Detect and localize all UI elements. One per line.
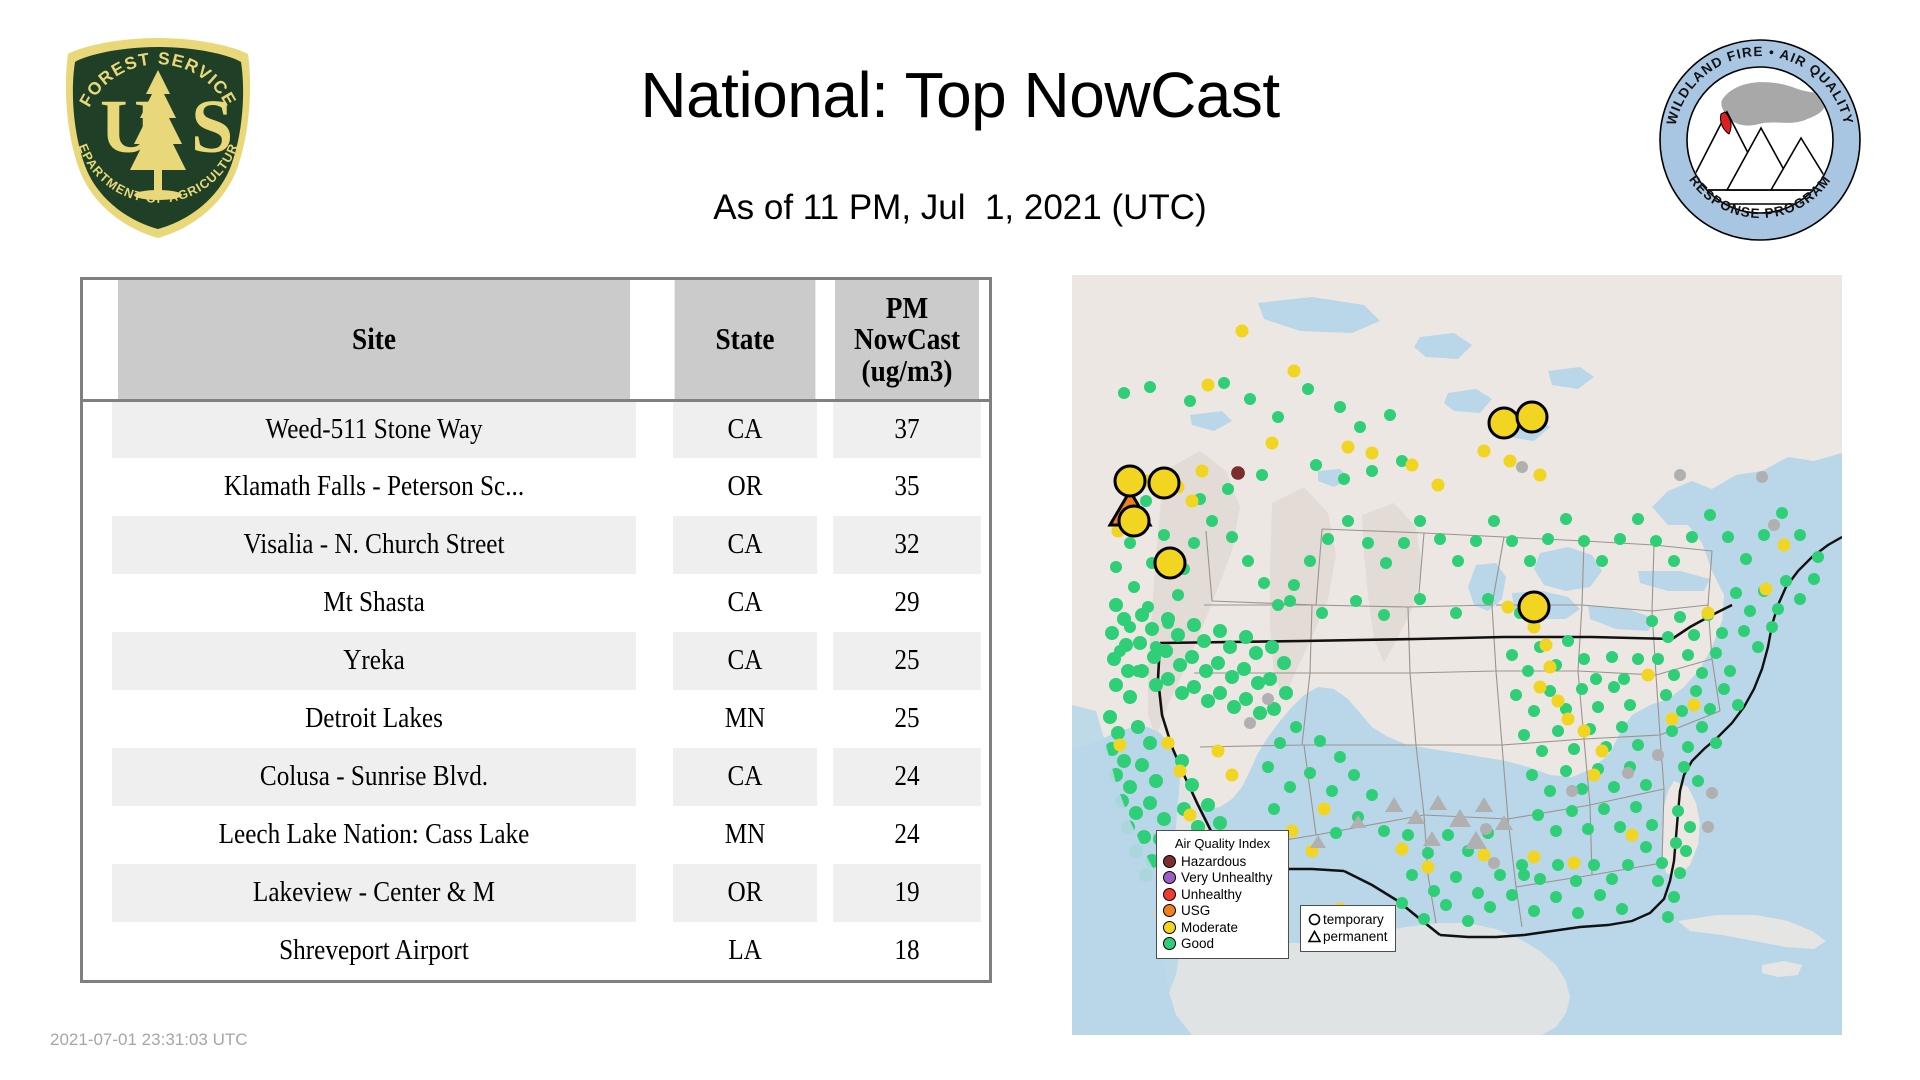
cell-site: Klamath Falls - Peterson Sc...	[112, 458, 636, 516]
cell-state: MN	[673, 806, 817, 864]
cell-site: Mt Shasta	[112, 574, 636, 632]
swatch-unhealthy-icon	[1163, 888, 1176, 901]
triangle-marker-icon	[1306, 930, 1323, 943]
aqi-legend-item-usg: USG	[1163, 903, 1282, 920]
pm-header-line-1: PM	[835, 292, 979, 324]
cell-state: CA	[673, 632, 817, 690]
cell-state: CA	[673, 574, 817, 632]
aqi-label-good: Good	[1181, 937, 1214, 951]
cell-site: Weed-511 Stone Way	[112, 400, 636, 458]
aqi-legend: Air Quality Index Hazardous Very Unhealt…	[1156, 830, 1289, 959]
aqi-legend-item-moderate: Moderate	[1163, 919, 1282, 936]
aqi-label-hazardous: Hazardous	[1181, 855, 1246, 869]
pm-header-line-2: NowCast	[835, 323, 979, 355]
page-subtitle: As of 11 PM, Jul 1, 2021 (UTC)	[300, 188, 1620, 228]
swatch-very-unhealthy-icon	[1163, 871, 1176, 884]
hazardous-monitors	[1232, 467, 1245, 480]
aqi-legend-item-hazardous: Hazardous	[1163, 853, 1282, 870]
national-aqi-map[interactable]: Air Quality Index Hazardous Very Unhealt…	[1072, 275, 1842, 1035]
circle-marker-icon	[1306, 913, 1323, 926]
table-row: Visalia - N. Church Street CA 32	[83, 516, 989, 574]
table-row: Leech Lake Nation: Cass Lake MN 24	[83, 806, 989, 864]
aqi-label-unhealthy: Unhealthy	[1181, 888, 1242, 902]
swatch-good-icon	[1163, 937, 1176, 950]
slide-root: U S FOREST SERVICE DEPARTMENT OF AGRICUL…	[0, 0, 1920, 1080]
cell-pm: 35	[833, 458, 981, 516]
aqi-label-usg: USG	[1181, 904, 1210, 918]
cell-pm: 32	[833, 516, 981, 574]
cell-pm: 37	[833, 400, 981, 458]
cell-state: CA	[673, 748, 817, 806]
aqi-legend-title: Air Quality Index	[1163, 836, 1282, 851]
cell-state: OR	[673, 864, 817, 922]
cell-state: MN	[673, 690, 817, 748]
cell-site: Visalia - N. Church Street	[112, 516, 636, 574]
cell-pm: 29	[833, 574, 981, 632]
table-row: Colusa - Sunrise Blvd. CA 24	[83, 748, 989, 806]
cell-pm: 24	[833, 806, 981, 864]
monitor-type-label-permanent: permanent	[1323, 930, 1388, 944]
top-nowcast-table: Site State PM NowCast (ug/m3) Weed-511 S…	[80, 277, 992, 983]
cell-state: OR	[673, 458, 817, 516]
cell-pm: 18	[833, 922, 981, 980]
swatch-usg-icon	[1163, 904, 1176, 917]
monitor-type-item-permanent: permanent	[1306, 928, 1390, 945]
cell-site: Yreka	[112, 632, 636, 690]
table-row: Yreka CA 25	[83, 632, 989, 690]
monitor-type-legend: temporary permanent	[1300, 905, 1396, 952]
column-header-pm-nowcast: PM NowCast (ug/m3)	[835, 280, 979, 400]
generated-timestamp: 2021-07-01 23:31:03 UTC	[50, 1030, 248, 1050]
aqi-legend-item-unhealthy: Unhealthy	[1163, 886, 1282, 903]
aqi-label-moderate: Moderate	[1181, 921, 1238, 935]
cell-pm: 25	[833, 690, 981, 748]
table-row: Shreveport Airport LA 18	[83, 922, 989, 980]
cell-state: CA	[673, 400, 817, 458]
monitor-type-label-temporary: temporary	[1323, 913, 1384, 927]
cell-site: Lakeview - Center & M	[112, 864, 636, 922]
aqi-label-very-unhealthy: Very Unhealthy	[1181, 871, 1273, 885]
wfaqrp-logo: WILDLAND FIRE • AIR QUALITY RESPONSE PRO…	[1655, 38, 1865, 243]
table-row: Mt Shasta CA 29	[83, 574, 989, 632]
monitor-type-item-temporary: temporary	[1306, 911, 1390, 928]
table-row: Detroit Lakes MN 25	[83, 690, 989, 748]
cell-site: Colusa - Sunrise Blvd.	[112, 748, 636, 806]
swatch-moderate-icon	[1163, 921, 1176, 934]
aqi-legend-item-good: Good	[1163, 936, 1282, 953]
cell-pm: 19	[833, 864, 981, 922]
table-row: Klamath Falls - Peterson Sc... OR 35	[83, 458, 989, 516]
usfs-shield-logo: U S FOREST SERVICE DEPARTMENT OF AGRICUL…	[52, 32, 264, 244]
cell-site: Leech Lake Nation: Cass Lake	[112, 806, 636, 864]
cell-pm: 24	[833, 748, 981, 806]
column-header-site: Site	[118, 280, 630, 400]
column-header-state: State	[675, 280, 816, 400]
aqi-legend-item-very-unhealthy: Very Unhealthy	[1163, 870, 1282, 887]
pm-header-line-3: (ug/m3)	[835, 355, 979, 387]
page-title: National: Top NowCast	[300, 58, 1620, 132]
cell-site: Detroit Lakes	[112, 690, 636, 748]
table-row: Weed-511 Stone Way CA 37	[83, 400, 989, 458]
cell-state: LA	[673, 922, 817, 980]
table-row: Lakeview - Center & M OR 19	[83, 864, 989, 922]
cell-pm: 25	[833, 632, 981, 690]
table-header-row: Site State PM NowCast (ug/m3)	[83, 280, 989, 400]
cell-state: CA	[673, 516, 817, 574]
cell-site: Shreveport Airport	[112, 922, 636, 980]
swatch-hazardous-icon	[1163, 855, 1176, 868]
